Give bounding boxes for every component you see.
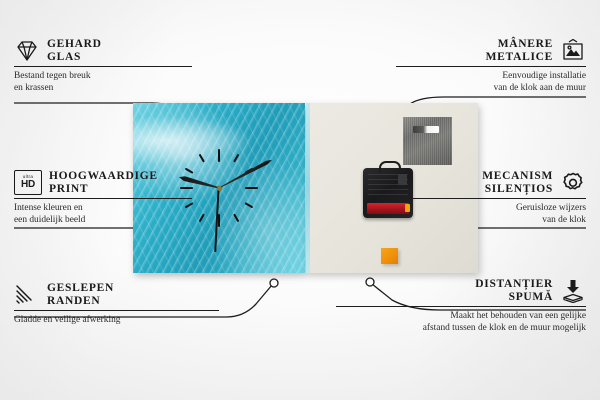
divider [14,66,192,67]
polished-edges-icon [14,283,40,307]
feature-hoogwaardige-print: ultra HD HOOGWAARDIGE PRINT Intense kleu… [14,170,192,226]
feature-title: DISTANȚIER SPUMĂ [475,278,553,303]
feature-title: MECANISM SILENȚIOS [482,170,553,195]
metal-hanger-plate [403,117,452,165]
feature-title: GESLEPEN RANDEN [47,282,114,307]
feature-title: MÂNERE METALICE [486,38,553,63]
divider [336,306,586,307]
gear-icon [560,171,586,195]
feature-manere-metalice: MÂNERE METALICE Eenvoudige installatie v… [396,38,586,94]
feature-description: Bestand tegen breuk en krassen [14,71,192,94]
feature-description: Gladde en veilige afwerking [14,315,219,326]
hanger-keyhole-slot [413,126,439,133]
feature-title: HOOGWAARDIGE PRINT [49,170,158,195]
divider [14,310,219,311]
divider [14,198,192,199]
feature-description: Maakt het behouden van een gelijke afsta… [336,311,586,334]
ultra-hd-icon: ultra HD [14,170,42,195]
feature-distantier-spuma: DISTANȚIER SPUMĂ Maakt het behouden van … [336,278,586,334]
feature-mecanism-silentios: MECANISM SILENȚIOS Geruisloze wijzers va… [396,170,586,226]
foam-spacer-icon [560,279,586,303]
feature-title: GEHARD GLAS [47,38,102,63]
feature-description: Geruisloze wijzers van de klok [396,203,586,226]
center-pin [217,186,222,191]
infographic-canvas: GEHARD GLAS Bestand tegen breuk en krass… [0,0,600,400]
endpoint-dot-geslepen-randen [270,279,278,287]
divider [396,66,586,67]
ultra-hd-icon-main-text: HD [21,180,35,190]
feature-gehard-glas: GEHARD GLAS Bestand tegen breuk en krass… [14,38,192,94]
foam-spacer [381,248,398,264]
diamond-icon [14,39,40,63]
feature-description: Eenvoudige installatie van de klok aan d… [396,71,586,94]
picture-hanger-icon [560,39,586,63]
feature-geslepen-randen: GESLEPEN RANDEN Gladde en veilige afwerk… [14,282,219,327]
feature-description: Intense kleuren en een duidelijk beeld [14,203,192,226]
glass-edge-strip [306,103,310,273]
divider [396,198,586,199]
